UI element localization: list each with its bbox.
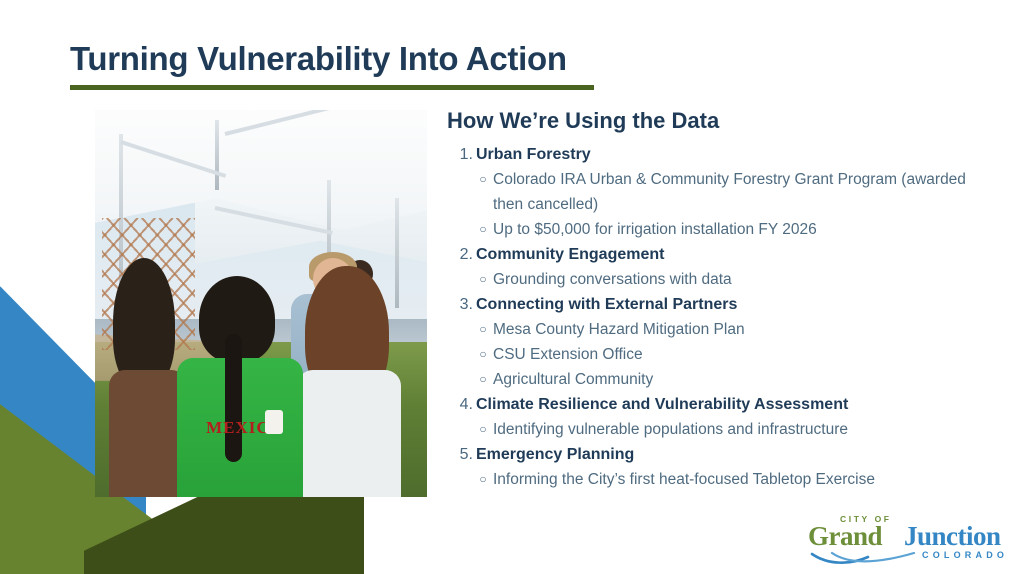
sub-list-item: ○ Identifying vulnerable populations and… [473, 417, 1007, 442]
hollow-circle-bullet-icon: ○ [473, 367, 493, 392]
list-item: 4. Climate Resilience and Vulnerability … [447, 392, 1007, 442]
hollow-circle-bullet-icon: ○ [473, 417, 493, 442]
sub-list: ○ Informing the City’s first heat-focuse… [473, 467, 1007, 492]
sub-list-item: ○ Agricultural Community [473, 367, 1007, 392]
section-heading: How We’re Using the Data [447, 108, 1007, 134]
content-column: How We’re Using the Data 1. Urban Forest… [447, 108, 1007, 492]
list-number: 1. [447, 142, 476, 167]
list-item: 3. Connecting with External Partners ○ M… [447, 292, 1007, 392]
hollow-circle-bullet-icon: ○ [473, 167, 493, 192]
river-swoosh-icon [810, 548, 920, 566]
list-label: Urban Forestry [476, 142, 591, 167]
sub-list-item: ○ Informing the City’s first heat-focuse… [473, 467, 1007, 492]
sub-list-item: ○ Colorado IRA Urban & Community Forestr… [473, 167, 1007, 217]
photo-person-right [301, 266, 405, 497]
hollow-circle-bullet-icon: ○ [473, 342, 493, 367]
sub-list: ○ Colorado IRA Urban & Community Forestr… [473, 167, 1007, 242]
hollow-circle-bullet-icon: ○ [473, 217, 493, 242]
sub-item-text: CSU Extension Office [493, 342, 643, 367]
hollow-circle-bullet-icon: ○ [473, 317, 493, 342]
slide-canvas: Turning Vulnerability Into Action [0, 0, 1024, 574]
sub-item-text: Colorado IRA Urban & Community Forestry … [493, 167, 985, 217]
sub-list: ○ Identifying vulnerable populations and… [473, 417, 1007, 442]
using-the-data-list: 1. Urban Forestry ○ Colorado IRA Urban &… [447, 142, 1007, 492]
sub-item-text: Up to $50,000 for irrigation installatio… [493, 217, 817, 242]
slide-title: Turning Vulnerability Into Action [70, 40, 567, 78]
numbered-item-row: 2. Community Engagement [447, 242, 1007, 267]
numbered-item-row: 3. Connecting with External Partners [447, 292, 1007, 317]
logo-colorado-text: COLORADO [922, 550, 1008, 560]
hollow-circle-bullet-icon: ○ [473, 267, 493, 292]
sub-list-item: ○ Up to $50,000 for irrigation installat… [473, 217, 1007, 242]
sub-item-text: Grounding conversations with data [493, 267, 732, 292]
title-underline-rule [70, 85, 594, 90]
list-item: 5. Emergency Planning ○ Informing the Ci… [447, 442, 1007, 492]
list-number: 5. [447, 442, 476, 467]
photo-cup [265, 410, 283, 434]
list-number: 3. [447, 292, 476, 317]
list-number: 2. [447, 242, 476, 267]
numbered-item-row: 4. Climate Resilience and Vulnerability … [447, 392, 1007, 417]
sub-list-item: ○ Mesa County Hazard Mitigation Plan [473, 317, 1007, 342]
list-item: 2. Community Engagement ○ Grounding conv… [447, 242, 1007, 292]
forest-chevron-decoration [84, 495, 364, 574]
community-event-photo: MEXICO [95, 110, 427, 497]
list-label: Climate Resilience and Vulnerability Ass… [476, 392, 848, 417]
sub-item-text: Identifying vulnerable populations and i… [493, 417, 848, 442]
numbered-item-row: 5. Emergency Planning [447, 442, 1007, 467]
sub-list-item: ○ CSU Extension Office [473, 342, 1007, 367]
numbered-item-row: 1. Urban Forestry [447, 142, 1007, 167]
photo-tent-pole [215, 120, 219, 190]
hollow-circle-bullet-icon: ○ [473, 467, 493, 492]
sub-item-text: Agricultural Community [493, 367, 653, 392]
list-label: Emergency Planning [476, 442, 634, 467]
sub-item-text: Mesa County Hazard Mitigation Plan [493, 317, 745, 342]
sub-list: ○ Mesa County Hazard Mitigation Plan ○ C… [473, 317, 1007, 392]
list-label: Community Engagement [476, 242, 664, 267]
photo-student-green-jersey: MEXICO [181, 272, 307, 497]
sub-list-item: ○ Grounding conversations with data [473, 267, 1007, 292]
city-of-grand-junction-logo: CITY OF Grand Junction COLORADO [808, 512, 1008, 568]
list-label: Connecting with External Partners [476, 292, 737, 317]
photo-jersey-text: MEXICO [185, 418, 305, 438]
sub-item-text: Informing the City’s first heat-focused … [493, 467, 875, 492]
sub-list: ○ Grounding conversations with data [473, 267, 1007, 292]
list-item: 1. Urban Forestry ○ Colorado IRA Urban &… [447, 142, 1007, 242]
list-number: 4. [447, 392, 476, 417]
